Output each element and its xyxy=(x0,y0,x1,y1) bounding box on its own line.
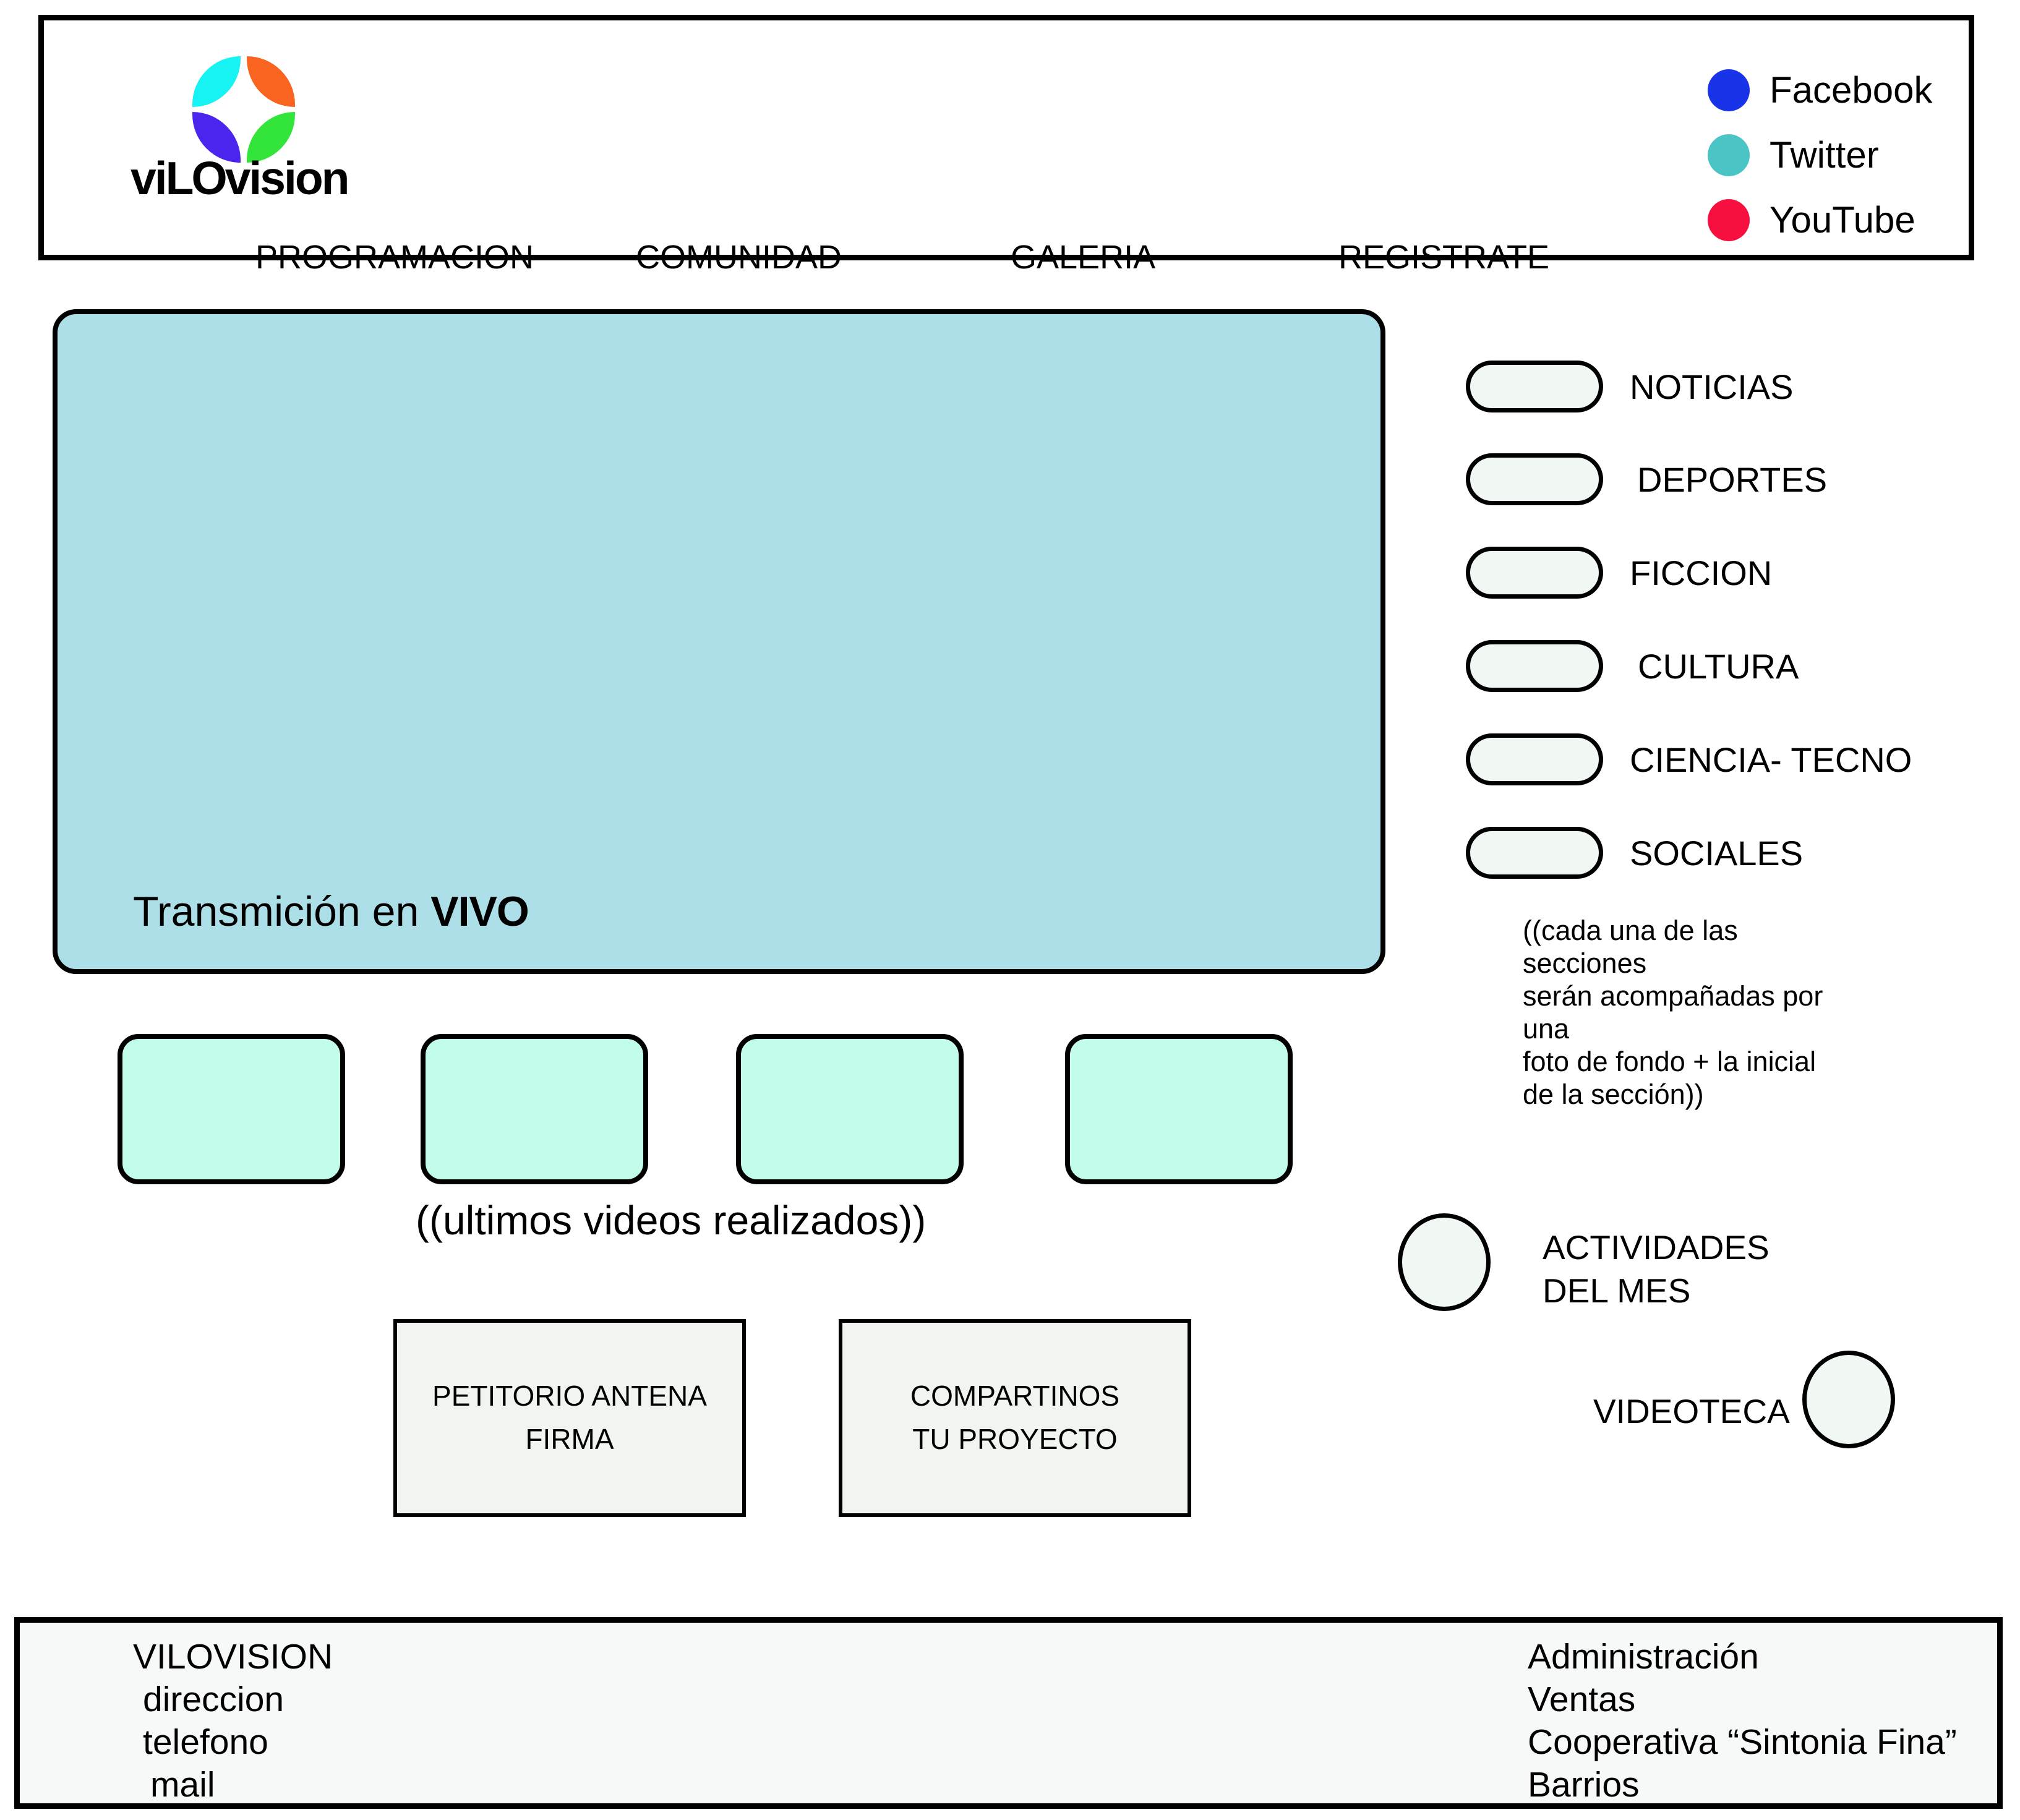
footer-departments-column: Administración Ventas Cooperativa “Sinto… xyxy=(1528,1636,1957,1806)
footer-line[interactable]: Administración xyxy=(1528,1636,1957,1678)
footer-line: direccion xyxy=(133,1678,333,1721)
nav-item-comunidad[interactable]: COMUNIDAD xyxy=(636,238,842,276)
latest-videos-caption: ((ultimos videos realizados)) xyxy=(416,1197,926,1244)
live-caption-vivo: VIVO xyxy=(430,888,529,935)
section-pill-thumbnail xyxy=(1466,361,1603,412)
footer-line: telefono xyxy=(133,1721,333,1764)
brand-wordmark-vision: vision xyxy=(225,152,348,204)
action-box-label: COMPARTINOS TU PROYECTO xyxy=(910,1375,1119,1461)
sidebar-item-cultura[interactable]: CULTURA xyxy=(1466,640,1799,692)
footer-line: VILOVISION xyxy=(133,1636,333,1678)
live-stream-player[interactable] xyxy=(53,309,1385,974)
sidebar-item-label: FICCION xyxy=(1630,553,1772,593)
video-thumb[interactable] xyxy=(118,1034,345,1184)
facebook-dot-icon xyxy=(1708,69,1750,111)
main-navigation: PROGRAMACION COMUNIDAD GALERIA REGISTRAT… xyxy=(223,238,1534,274)
social-label-youtube: YouTube xyxy=(1770,199,1915,241)
section-pill-thumbnail xyxy=(1466,640,1603,692)
site-header: viLOvision Facebook Twitter YouTube PROG… xyxy=(38,15,1974,260)
sections-annotation-note: ((cada una de las secciones serán acompa… xyxy=(1523,914,1869,1111)
sidebar-item-deportes[interactable]: DEPORTES xyxy=(1466,453,1827,505)
social-label-twitter: Twitter xyxy=(1770,134,1879,176)
videoteca-circle[interactable] xyxy=(1802,1351,1895,1448)
footer-contact-column: VILOVISION direccion telefono mail xyxy=(133,1636,333,1806)
sidebar-item-label: SOCIALES xyxy=(1630,833,1803,873)
petitorio-antena-firma-box[interactable]: PETITORIO ANTENA FIRMA xyxy=(393,1319,746,1517)
video-thumb[interactable] xyxy=(736,1034,964,1184)
social-link-facebook[interactable]: Facebook xyxy=(1708,58,1992,122)
nav-item-programacion[interactable]: PROGRAMACION xyxy=(255,238,534,276)
brand-wordmark-vi: vi xyxy=(131,152,166,204)
section-pill-thumbnail xyxy=(1466,733,1603,785)
sidebar-item-ficcion[interactable]: FICCION xyxy=(1466,547,1772,599)
actividades-del-mes-label: ACTIVIDADES DEL MES xyxy=(1543,1226,1770,1313)
twitter-dot-icon xyxy=(1708,134,1750,176)
videoteca-label: VIDEOTECA xyxy=(1593,1391,1790,1431)
nav-item-registrate[interactable]: REGISTRATE xyxy=(1338,238,1549,276)
four-petal-circle-logo-icon xyxy=(192,56,296,163)
video-thumb[interactable] xyxy=(421,1034,648,1184)
sidebar-item-label: DEPORTES xyxy=(1637,459,1827,500)
sidebar-item-ciencia-tecno[interactable]: CIENCIA- TECNO xyxy=(1466,733,1912,785)
live-caption-prefix: Transmición en xyxy=(133,888,430,935)
action-box-label: PETITORIO ANTENA FIRMA xyxy=(432,1375,707,1461)
youtube-dot-icon xyxy=(1708,199,1750,241)
social-label-facebook: Facebook xyxy=(1770,69,1933,111)
live-stream-caption: Transmición en VIVO xyxy=(133,887,529,936)
footer-line[interactable]: Cooperativa “Sintonia Fina” xyxy=(1528,1721,1957,1764)
video-thumb[interactable] xyxy=(1065,1034,1293,1184)
section-pill-thumbnail xyxy=(1466,453,1603,505)
sidebar-item-sociales[interactable]: SOCIALES xyxy=(1466,827,1803,879)
compartinos-tu-proyecto-box[interactable]: COMPARTINOS TU PROYECTO xyxy=(839,1319,1191,1517)
section-pill-thumbnail xyxy=(1466,827,1603,879)
social-link-youtube[interactable]: YouTube xyxy=(1708,187,1992,252)
sidebar-item-label: CIENCIA- TECNO xyxy=(1630,740,1912,780)
section-pill-thumbnail xyxy=(1466,547,1603,599)
footer-line: mail xyxy=(133,1764,333,1806)
social-links-list: Facebook Twitter YouTube xyxy=(1708,58,1992,252)
sidebar-item-label: CULTURA xyxy=(1638,646,1799,686)
logo-petal-top-left xyxy=(192,56,241,107)
nav-item-galeria[interactable]: GALERIA xyxy=(1011,238,1155,276)
social-link-twitter[interactable]: Twitter xyxy=(1708,122,1992,187)
footer-line[interactable]: Barrios xyxy=(1528,1764,1957,1806)
sidebar-item-label: NOTICIAS xyxy=(1630,367,1793,407)
sidebar-item-noticias[interactable]: NOTICIAS xyxy=(1466,361,1793,412)
page-root: viLOvision Facebook Twitter YouTube PROG… xyxy=(0,0,2020,1820)
brand-wordmark[interactable]: viLOvision xyxy=(131,155,348,202)
footer-line[interactable]: Ventas xyxy=(1528,1678,1957,1721)
brand-wordmark-lo: LO xyxy=(166,152,225,204)
logo-petal-top-right xyxy=(247,56,295,107)
actividades-del-mes-circle[interactable] xyxy=(1398,1213,1491,1311)
